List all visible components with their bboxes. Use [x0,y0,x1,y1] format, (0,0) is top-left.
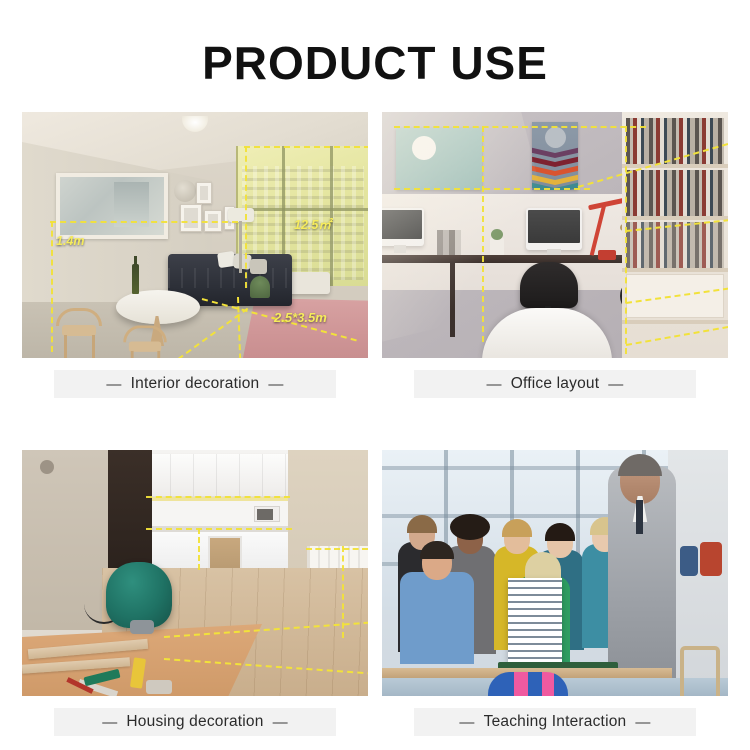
cushion [250,259,267,274]
chevron-poster [532,122,578,190]
backpack [488,672,568,696]
potted-plant [250,276,270,298]
window-mullion [238,208,368,211]
hanging-coat [700,542,722,576]
caption-interior-decoration: — Interior decoration — [54,370,336,398]
dash-right: — [259,376,292,393]
hanging-coat [680,546,698,576]
photo-teaching-interaction [382,450,728,696]
measure-line-vertical [198,528,200,570]
panel-grid: 12.5㎡ 1.4m 2.5*3.5m — Interior decoratio… [22,112,728,736]
measure-line-vertical [482,126,484,342]
caption-housing-decoration: — Housing decoration — [54,708,336,736]
photo-interior-decoration: 12.5㎡ 1.4m 2.5*3.5m [22,112,368,358]
measure-line-vertical [625,126,627,354]
wine-bottle [132,264,139,294]
dash-left: — [450,714,483,731]
area-rug [236,298,368,358]
worker [106,562,172,628]
measure-line-horizontal [306,548,368,550]
tape-measure [146,680,172,694]
caption-label: Interior decoration [131,375,260,393]
dining-chair [56,308,102,358]
panel-housing-decoration[interactable]: — Housing decoration — [22,450,368,736]
measure-line-horizontal [146,496,290,498]
measure-line-window-side [245,146,247,288]
measure-line-horizontal [50,221,238,223]
photo-office-layout [382,112,728,358]
product-use-page: PRODUCT USE [0,0,750,750]
panel-row-2: — Housing decoration — [22,450,728,736]
upper-cabinets [148,454,288,496]
dash-right: — [264,714,297,731]
measure-label-rug: 2.5*3.5m [274,310,327,325]
dash-left: — [93,714,126,731]
wall-disc-decor [174,180,196,202]
panel-interior-decoration[interactable]: 12.5㎡ 1.4m 2.5*3.5m — Interior decoratio… [22,112,368,398]
measure-line-horizontal [394,188,590,190]
seated-student [400,572,474,664]
caption-label: Teaching Interaction [484,713,627,731]
classroom-chair [680,646,720,696]
dash-right: — [626,714,659,731]
picture-frame [180,204,202,232]
caption-label: Housing decoration [126,713,263,731]
caption-label: Office layout [511,375,599,393]
picture-frame [196,182,212,204]
measure-label-area: 12.5㎡ [294,214,331,233]
measure-line-vertical [51,221,53,352]
panel-teaching-interaction[interactable]: — Teaching Interaction — [382,450,728,736]
dining-chair [123,325,167,358]
floor-lamp [228,208,254,222]
caption-office-layout: — Office layout — [414,370,696,398]
dash-left: — [97,376,130,393]
circle-shape [545,127,566,148]
building-model [508,578,562,664]
page-title: PRODUCT USE [0,36,750,90]
measure-line-horizontal [394,126,646,128]
dash-left: — [478,376,511,393]
teacher [608,466,676,680]
white-chair [482,308,612,358]
photo-housing-decoration [22,450,368,696]
measure-label-height: 1.4m [56,234,85,248]
measure-line-horizontal [146,528,292,530]
panel-row-1: 12.5㎡ 1.4m 2.5*3.5m — Interior decoratio… [22,112,728,398]
caption-teaching-interaction: — Teaching Interaction — [414,708,696,736]
panel-office-layout[interactable]: — Office layout — [382,112,728,398]
measure-line-window-top [244,146,368,148]
microwave [254,506,280,522]
dash-right: — [599,376,632,393]
cushion [233,253,251,270]
wall-mirror [56,173,168,239]
